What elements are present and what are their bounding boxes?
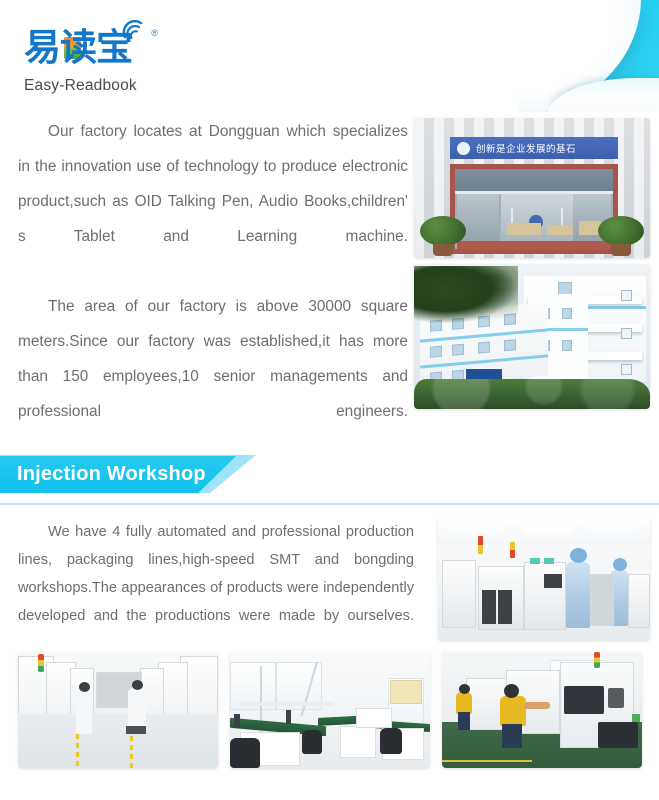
machine-panel	[482, 590, 496, 624]
wifi-signal-icon	[122, 20, 144, 40]
signal-tower-icon	[594, 652, 600, 668]
line-floor	[18, 714, 218, 768]
cleanroom-worker	[566, 562, 590, 628]
logo-english-wordmark: Easy-Readbook	[24, 77, 164, 95]
section-banner: Injection Workshop	[0, 455, 659, 495]
section-paragraph: We have 4 fully automated and profession…	[18, 518, 414, 658]
signal-tower-icon	[38, 654, 44, 672]
bench-microscope	[234, 714, 240, 728]
entrance-kick-panel	[457, 241, 611, 249]
smt-control-panel	[608, 688, 624, 708]
smt-machine-photo	[442, 652, 642, 768]
building-window	[621, 328, 632, 339]
smt-worker	[456, 692, 472, 714]
shrub-pot	[433, 244, 453, 256]
worker-legs	[502, 724, 522, 748]
entrance-carton-2	[547, 225, 573, 235]
worker-head	[459, 684, 470, 694]
bench-microscope	[286, 710, 291, 724]
smt-side-cart	[598, 722, 638, 748]
intro-paragraph-1: Our factory locates at Dongguan which sp…	[18, 114, 408, 289]
intro-paragraph-2: The area of our factory is above 30000 s…	[18, 289, 408, 464]
cleanroom-machine	[442, 560, 476, 628]
page-curl-fold-shadow	[547, 78, 659, 112]
bench-cabinet	[340, 726, 376, 758]
building-window	[430, 346, 442, 358]
factory-entrance-photo: 创新是企业发展的基石	[414, 118, 650, 258]
page-curl-decoration	[519, 0, 659, 112]
cleanroom-machine	[628, 574, 650, 628]
building-window	[562, 340, 572, 351]
signal-tower-icon	[510, 542, 515, 558]
worker-head	[613, 558, 627, 571]
entrance-carton-1	[507, 223, 541, 235]
entrance-transom	[455, 169, 613, 194]
office-chair	[302, 730, 322, 754]
section-divider-rule	[0, 503, 659, 505]
cleanroom-machine	[524, 562, 566, 630]
production-line-photo	[18, 652, 218, 768]
factory-building-photo	[414, 264, 650, 409]
floor-marking-line	[442, 760, 532, 762]
shrub-foliage	[420, 216, 466, 246]
entrance-door-frame	[450, 164, 618, 254]
office-chair	[380, 728, 402, 754]
building-window	[478, 341, 490, 353]
brand-logo: ® 易读宝 Easy-Readbook	[24, 26, 164, 95]
bonding-workbench-photo	[230, 652, 430, 768]
section-banner-main-shape: Injection Workshop	[0, 456, 236, 493]
building-window	[621, 290, 632, 301]
signal-tower-icon	[478, 536, 483, 554]
worker-head	[504, 684, 519, 698]
worker-stool	[126, 726, 146, 734]
building-window	[452, 344, 464, 356]
page-curl-white-shape	[519, 0, 641, 112]
foreground-hedge	[414, 379, 650, 409]
cleanroom-machine	[590, 574, 614, 626]
smt-worker	[500, 696, 526, 726]
worker-head	[570, 548, 587, 563]
company-profile-page: ® 易读宝 Easy-Readbook Our factory locates …	[0, 0, 659, 800]
entrance-potted-shrub-left	[420, 216, 466, 256]
building-entrance-sign	[466, 369, 502, 379]
office-chair	[230, 738, 260, 768]
entrance-potted-shrub-right	[598, 216, 644, 256]
entrance-banner: 创新是企业发展的基石	[450, 137, 618, 159]
bench-instrument	[356, 708, 392, 728]
machine-panel	[498, 590, 512, 624]
section-text-block: We have 4 fully automated and profession…	[18, 518, 414, 658]
worker-head	[132, 680, 143, 690]
entrance-banner-text: 创新是企业发展的基石	[476, 141, 576, 155]
cleanroom-smt-photo	[438, 518, 650, 640]
shrub-pot	[611, 244, 631, 256]
line-worker	[128, 688, 146, 728]
section-banner-title: Injection Workshop	[0, 463, 206, 486]
shrub-foliage	[598, 216, 644, 246]
building-window	[504, 339, 516, 351]
machine-screen	[544, 574, 562, 588]
line-worker	[76, 690, 92, 734]
indicator-light	[544, 558, 554, 564]
page-curl-cyan-shape	[519, 0, 659, 112]
ceiling-lamp	[588, 524, 634, 527]
cleanroom-ceiling	[438, 518, 650, 544]
intro-text-block: Our factory locates at Dongguan which sp…	[18, 114, 408, 464]
entrance-banner-logo-icon	[457, 142, 470, 155]
building-window	[562, 308, 572, 319]
logo-mark: ® 易读宝	[24, 26, 156, 74]
indicator-light	[530, 558, 540, 564]
smt-machine-screen	[564, 686, 604, 714]
ceiling-lamp	[524, 528, 572, 531]
indicator-light	[632, 714, 640, 722]
foreground-tree	[414, 266, 518, 324]
worker-legs	[458, 712, 470, 730]
worker-arm	[524, 702, 550, 709]
building-window	[621, 364, 632, 375]
ceiling-lamp	[448, 524, 502, 527]
bench-shelf	[238, 702, 334, 706]
worker-head	[79, 682, 90, 692]
wall-notice-board	[390, 680, 422, 704]
